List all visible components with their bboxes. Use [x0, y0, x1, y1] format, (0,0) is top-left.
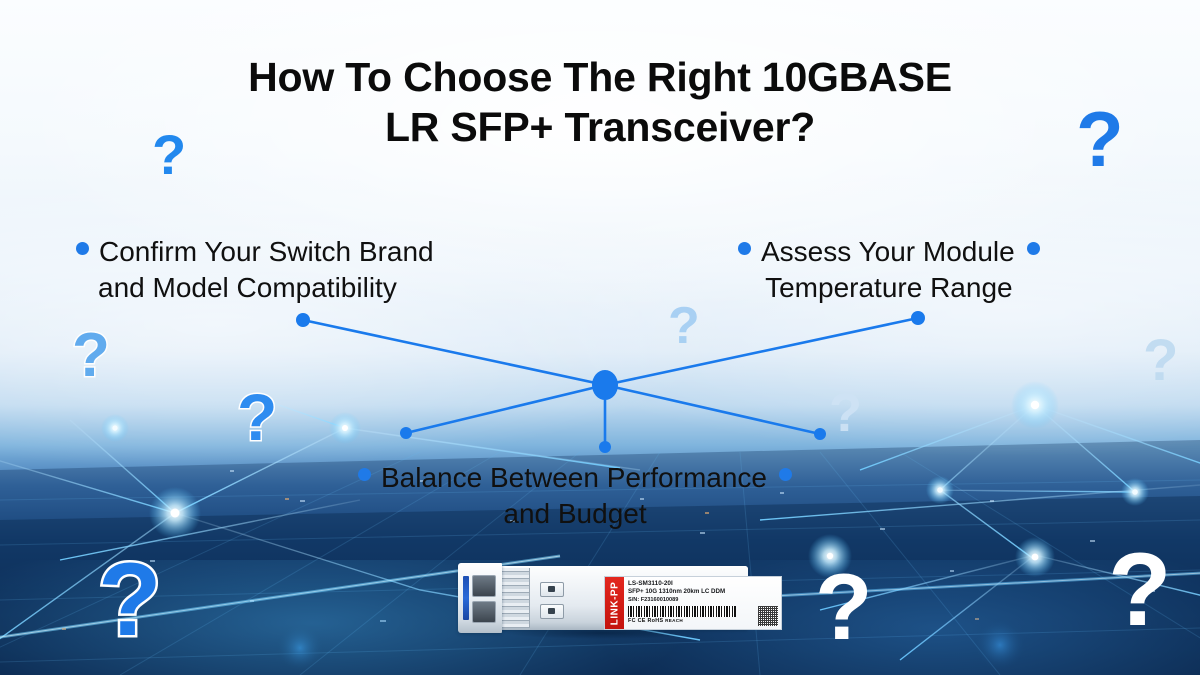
qr-code [758, 606, 778, 626]
label-body: LS-SM3110-20I SFP+ 10G 1310nm 20km LC DD… [624, 577, 781, 629]
bullet-dot-icon-right [1027, 242, 1040, 255]
brand-name: LINK-PP [609, 581, 620, 625]
qm-left-upper: ? [72, 325, 110, 387]
page-title: How To Choose The Right 10GBASE LR SFP+ … [0, 52, 1200, 152]
qm-bottom-right: ? [1108, 538, 1172, 642]
module-lc-port-upper [472, 575, 496, 597]
bullet-dot-icon [358, 468, 371, 481]
qm-right-mid: ? [1143, 332, 1178, 390]
bullet-text-line-1: Confirm Your Switch Brand [99, 236, 434, 267]
module-latch-lower [540, 604, 564, 619]
qm-center-right: ? [829, 386, 862, 440]
bullet-line-1: Balance Between Performance [358, 460, 792, 496]
qm-bottom-center: ? [815, 560, 872, 654]
infographic-canvas: ?????????? How To Choose The Right 10GBA… [0, 0, 1200, 675]
bullet-dot-icon [738, 242, 751, 255]
bullet-temperature-range: Assess Your Module Temperature Range [738, 234, 1040, 306]
qm-center-top: ? [668, 300, 700, 352]
module-latch-upper [540, 582, 564, 597]
bullet-text-line-2: and Budget [503, 498, 646, 529]
barcode [628, 606, 736, 617]
sfp-plus-transceiver-module: LINK-PP LS-SM3110-20I SFP+ 10G 1310nm 20… [458, 562, 748, 640]
bullet-text-line-2: and Model Compatibility [98, 272, 397, 303]
qm-left-mid: ? [237, 384, 277, 450]
title-line-2: LR SFP+ Transceiver? [0, 102, 1200, 152]
bullet-dot-icon [76, 242, 89, 255]
bullet-line-1: Confirm Your Switch Brand [76, 234, 434, 270]
cert-logos: FC CE RoHS [628, 618, 663, 624]
module-product-label: LINK-PP LS-SM3110-20I SFP+ 10G 1310nm 20… [604, 576, 782, 630]
module-blue-latch [463, 576, 469, 620]
certification-marks: FC CE RoHS REACH [628, 618, 779, 624]
bullet-line-2: and Model Compatibility [76, 270, 434, 306]
bullet-line-2: Temperature Range [738, 270, 1040, 306]
bullet-text-line-1: Assess Your Module [761, 236, 1015, 267]
label-part-number: LS-SM3110-20I [628, 579, 779, 588]
bullet-line-1: Assess Your Module [738, 234, 1040, 270]
brand-strip: LINK-PP [605, 577, 624, 629]
title-line-1: How To Choose The Right 10GBASE [0, 52, 1200, 102]
bullet-line-2: and Budget [358, 496, 792, 532]
qm-bottom-left-big: ? [98, 548, 162, 652]
bullet-switch-compatibility: Confirm Your Switch Brand and Model Comp… [76, 234, 434, 306]
module-body: LINK-PP LS-SM3110-20I SFP+ 10G 1310nm 20… [496, 566, 748, 630]
bullet-dot-icon-right [779, 468, 792, 481]
module-lc-port-lower [472, 601, 496, 623]
module-lc-duplex-connector [458, 563, 502, 633]
bullet-performance-budget: Balance Between Performance and Budget [358, 460, 792, 532]
bullet-text-line-2: Temperature Range [765, 272, 1012, 303]
label-spec: SFP+ 10G 1310nm 20km LC DDM [628, 588, 779, 597]
label-serial-number: S/N: F23160010089 [628, 597, 779, 605]
reach-mark: REACH [665, 618, 683, 623]
module-heatsink-fins [498, 568, 530, 628]
bullet-text-line-1: Balance Between Performance [381, 462, 767, 493]
